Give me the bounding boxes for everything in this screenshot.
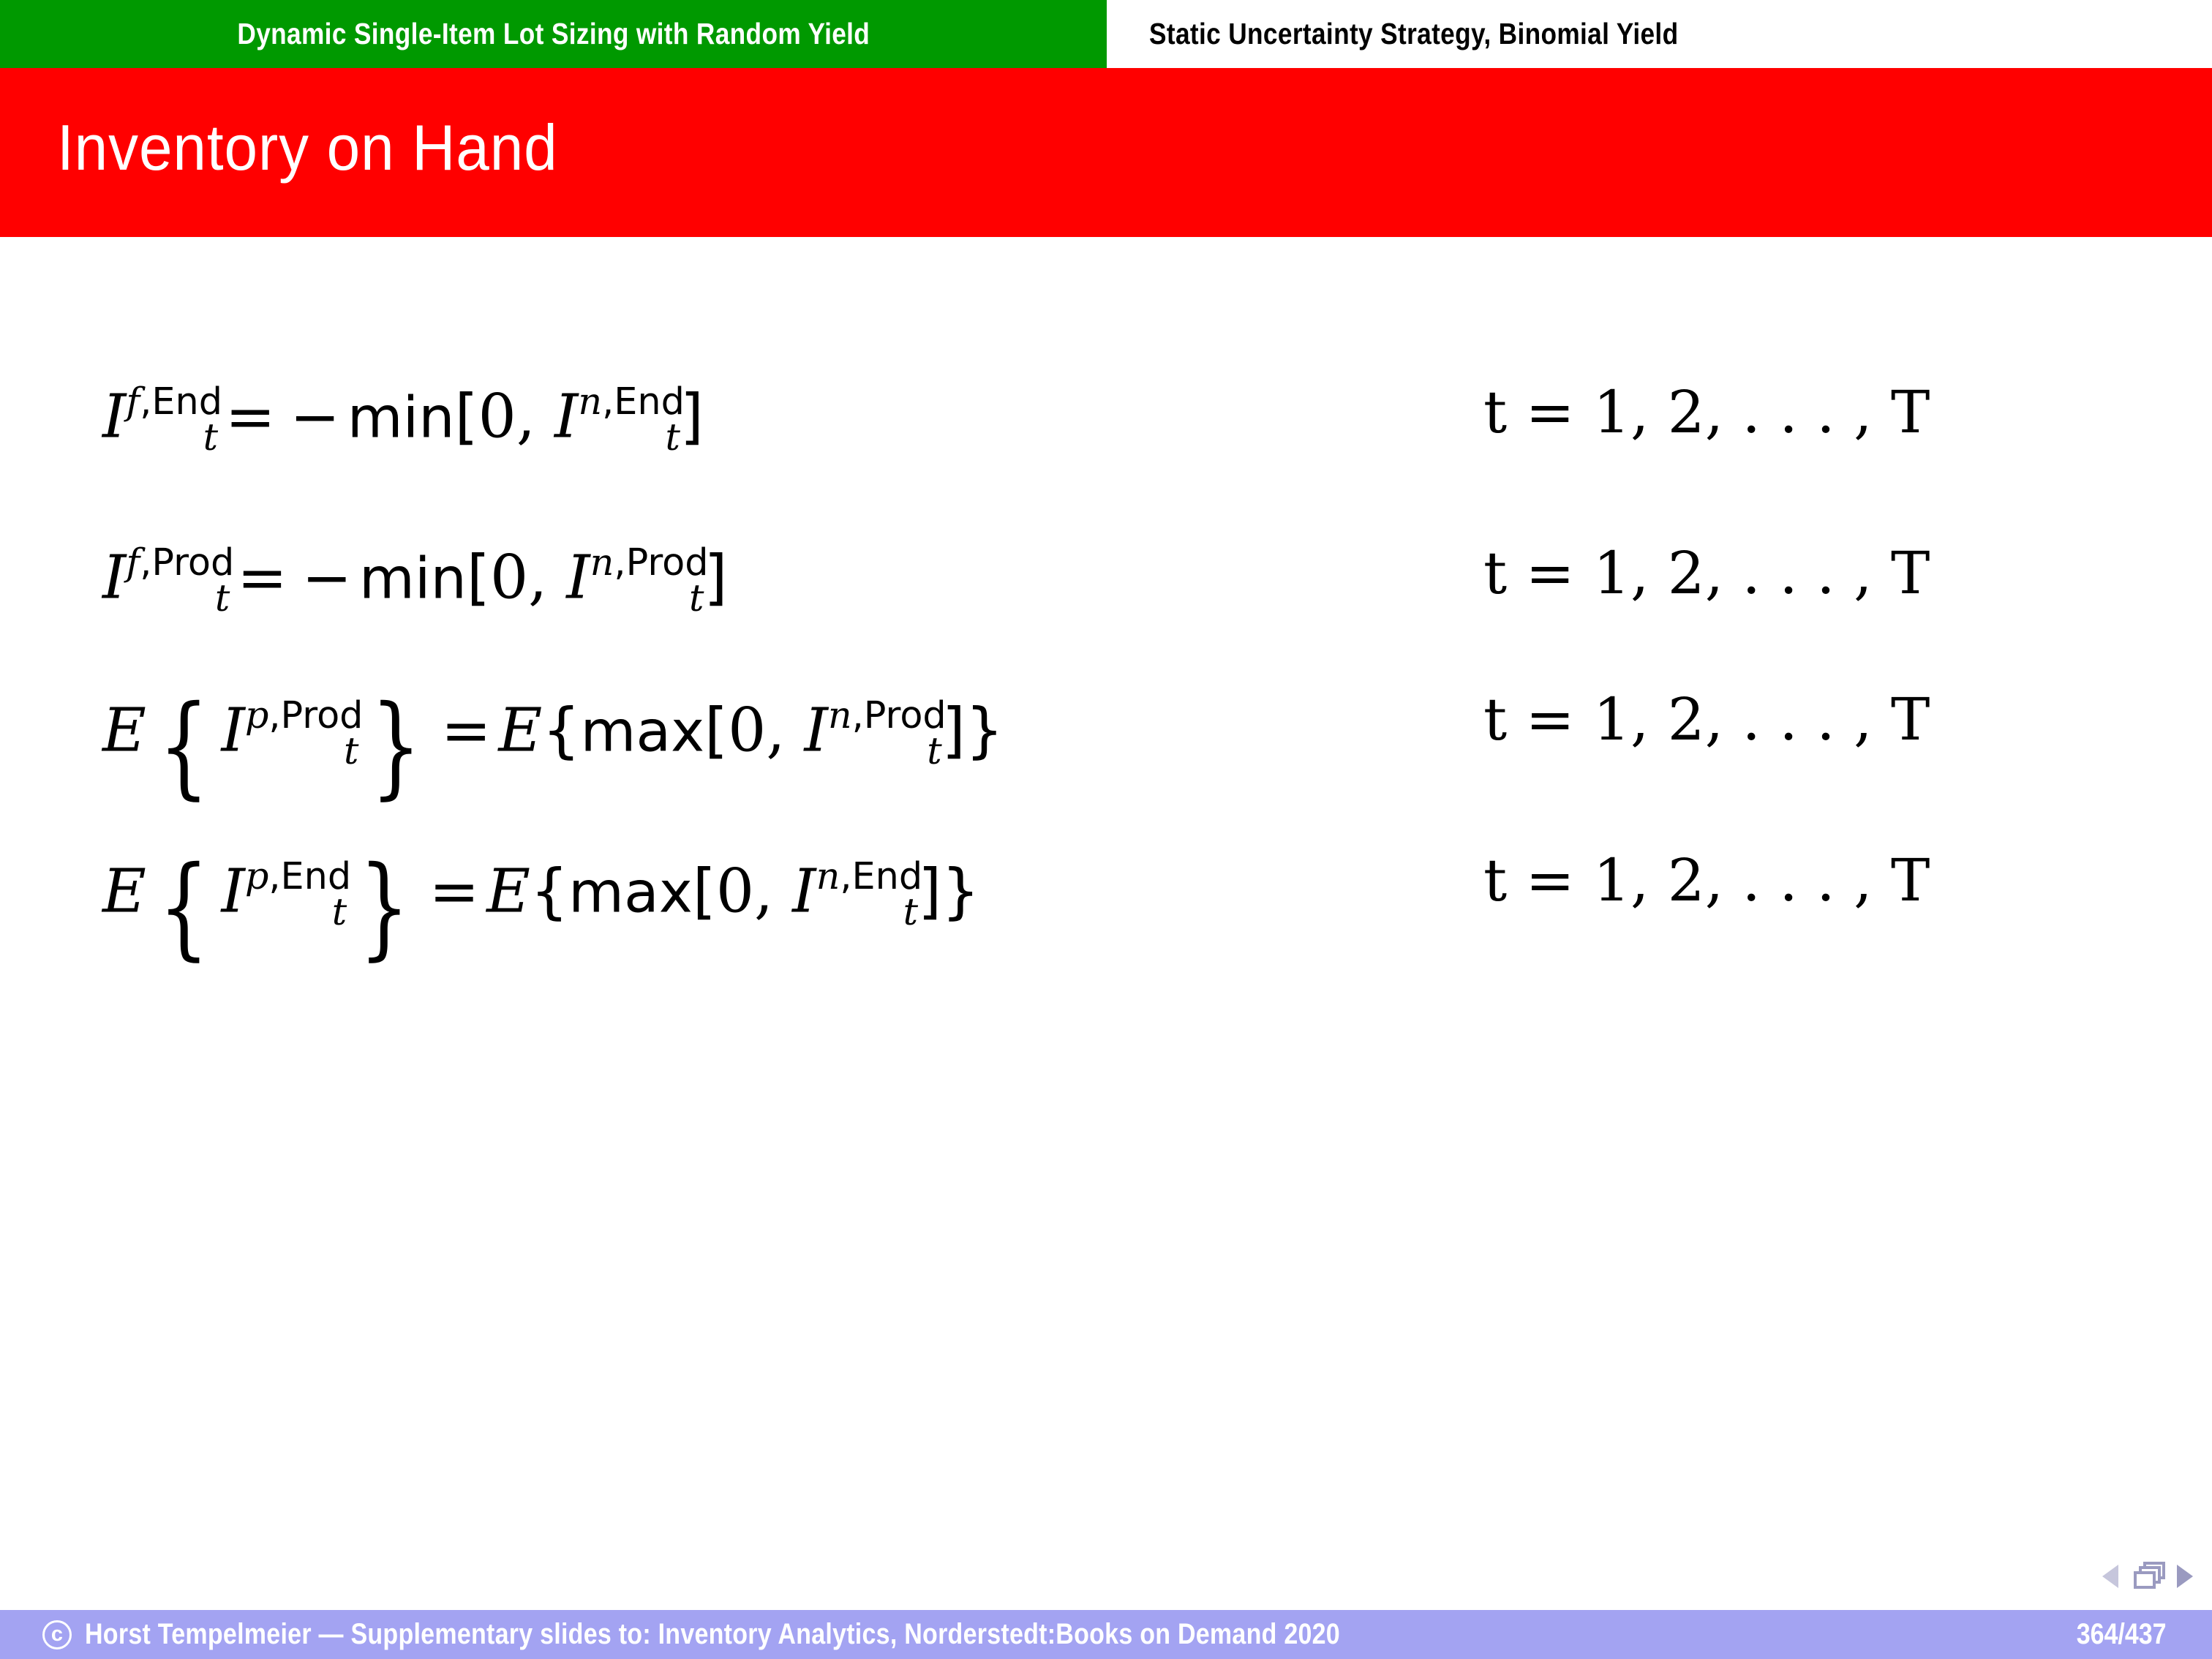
- page-title: Inventory on Hand: [57, 110, 558, 185]
- equation-condition: t = 1, 2, . . . , T: [1483, 851, 1930, 910]
- subscript: t: [215, 576, 230, 620]
- brace-open: {: [157, 851, 211, 963]
- variable-I: I: [102, 383, 126, 452]
- footer-credit-block: c Horst Tempelmeier — Supplementary slid…: [42, 1618, 1562, 1651]
- variable-I: I: [102, 543, 126, 613]
- stacked-frames-icon[interactable]: [2130, 1562, 2165, 1591]
- brace-open: {: [530, 857, 568, 927]
- operator-expectation: E: [498, 696, 542, 766]
- copyright-icon: c: [42, 1620, 72, 1649]
- equation-condition: t = 1, 2, . . . , T: [1483, 383, 1930, 442]
- variable-I: I: [554, 383, 578, 452]
- equation-condition: t = 1, 2, . . . , T: [1483, 544, 1930, 603]
- variable-I: I: [792, 857, 816, 927]
- relation-equals: =: [422, 857, 486, 927]
- subscript: t: [665, 415, 680, 459]
- subscript: t: [203, 415, 218, 459]
- sign-minus: −: [282, 383, 347, 452]
- variable-I: I: [566, 543, 590, 613]
- equation-inventory-fictitious-end: If,Endt=−min[0, In,Endt]: [102, 383, 704, 456]
- equation-inventory-fictitious-prod: If,Prodt=−min[0, In,Prodt]: [102, 544, 727, 617]
- brace-close: }: [966, 696, 1004, 766]
- subscript: t: [332, 890, 347, 933]
- section-title: Dynamic Single-Item Lot Sizing with Rand…: [237, 17, 870, 51]
- subsection-title: Static Uncertainty Strategy, Binomial Yi…: [1149, 17, 1678, 51]
- brace-close: }: [369, 691, 424, 802]
- function-max: max: [568, 860, 693, 926]
- beamer-navigation-symbols[interactable]: [2083, 1554, 2193, 1599]
- subscript: t: [344, 729, 358, 772]
- variable-I: I: [221, 696, 244, 766]
- footer-bar: c Horst Tempelmeier — Supplementary slid…: [0, 1610, 2212, 1659]
- relation-equals: =: [218, 383, 282, 452]
- subscript: t: [689, 576, 704, 620]
- function-max: max: [580, 699, 704, 765]
- sign-minus: −: [295, 543, 359, 613]
- equation-expected-positive-prod: E{Ip,Prodt}=E{max[0, In,Prodt]}: [102, 691, 1004, 802]
- subscript: t: [903, 890, 918, 933]
- slide-content: If,Endt=−min[0, In,Endt] t = 1, 2, . . .…: [0, 237, 2212, 1610]
- subsection-title-block[interactable]: Static Uncertainty Strategy, Binomial Yi…: [1107, 0, 2212, 68]
- page-indicator: 364/437: [2077, 1618, 2167, 1651]
- variable-I: I: [221, 857, 244, 927]
- equation-expected-positive-end: E{Ip,Endt}=E{max[0, In,Endt]}: [102, 851, 979, 963]
- subscript: t: [927, 729, 941, 772]
- argument-zero: 0: [728, 696, 766, 766]
- argument-zero: 0: [716, 857, 754, 927]
- brace-close: }: [358, 851, 412, 963]
- frame-front: [2134, 1571, 2156, 1589]
- triangle-right-icon[interactable]: [2177, 1565, 2193, 1588]
- function-min: min: [359, 546, 467, 612]
- operator-expectation: E: [102, 857, 146, 927]
- triangle-left-icon[interactable]: [2102, 1565, 2118, 1588]
- title-band: Inventory on Hand: [0, 68, 2212, 237]
- brace-open: {: [542, 696, 580, 766]
- relation-equals: =: [230, 543, 294, 613]
- brace-close: }: [941, 857, 979, 927]
- variable-I: I: [804, 696, 827, 766]
- argument-zero: 0: [490, 543, 528, 613]
- section-title-block[interactable]: Dynamic Single-Item Lot Sizing with Rand…: [0, 0, 1107, 68]
- function-min: min: [347, 385, 455, 451]
- brace-open: {: [157, 691, 211, 802]
- argument-zero: 0: [478, 383, 516, 452]
- relation-equals: =: [434, 696, 498, 766]
- equation-condition: t = 1, 2, . . . , T: [1483, 691, 1930, 749]
- operator-expectation: E: [102, 696, 146, 766]
- footer-credit: Horst Tempelmeier — Supplementary slides…: [85, 1618, 1340, 1651]
- operator-expectation: E: [486, 857, 530, 927]
- headline-bar: Dynamic Single-Item Lot Sizing with Rand…: [0, 0, 2212, 68]
